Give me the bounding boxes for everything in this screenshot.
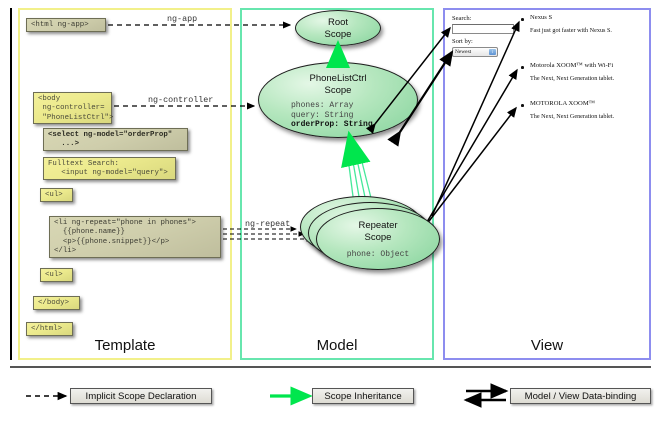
panel-template-title: Template <box>20 337 230 354</box>
template-box-ul-close: <ul> <box>40 268 73 282</box>
template-box-ul-open: <ul> <box>40 188 73 202</box>
bottom-horizontal-rule <box>10 366 651 368</box>
view-list-item[interactable]: Nexus S Fast just got faster with Nexus … <box>530 14 645 35</box>
edge-label-ng-controller: ng-controller <box>148 95 213 105</box>
left-vertical-rule <box>10 8 12 360</box>
view-phone-snippet: The Next, Next Generation tablet. <box>530 113 648 121</box>
template-box-body: <body ng-controller= "PhoneListCtrl"> <box>33 92 112 124</box>
scope-root-title-2: Scope <box>296 29 380 41</box>
scope-root: Root Scope <box>295 10 381 46</box>
template-box-li: <li ng-repeat="phone in phones"> {{phone… <box>49 216 221 258</box>
view-list-item[interactable]: MOTOROLA XOOM™ The Next, Next Generation… <box>530 100 648 121</box>
diagram-canvas: Template <html ng-app> <body ng-controll… <box>0 0 661 425</box>
template-box-html: <html ng-app> <box>26 18 106 32</box>
panel-view-title: View <box>445 337 649 354</box>
view-list-bullet <box>521 18 524 21</box>
chevron-down-icon: ↕ <box>489 49 496 55</box>
scope-ctrl-title-1: PhoneListCtrl <box>259 73 417 85</box>
view-phone-snippet: The Next, Next Generation tablet. <box>530 75 648 83</box>
view-list-bullet <box>521 104 524 107</box>
scope-ctrl-prop-phones: phones: Array <box>291 101 417 111</box>
view-sort-label: Sort by: <box>452 38 473 45</box>
panel-model: Model <box>240 8 434 360</box>
view-phone-name: MOTOROLA XOOM™ <box>530 100 648 108</box>
view-phone-snippet: Fast just got faster with Nexus S. <box>530 27 645 35</box>
legend-label-implicit: Implicit Scope Declaration <box>70 388 212 404</box>
scope-repeater-title-1: Repeater <box>317 220 439 232</box>
view-sort-select[interactable]: Newest ↕ <box>452 47 498 57</box>
legend-label-inheritance: Scope Inheritance <box>312 388 414 404</box>
view-search-input[interactable] <box>452 24 514 34</box>
template-box-select: <select ng-model="orderProp" ...> <box>43 128 188 151</box>
scope-ctrl-prop-orderprop: orderProp: String <box>291 120 417 130</box>
view-phone-name: Motorola XOOM™ with Wi-Fi <box>530 62 648 70</box>
template-box-body-close: </body> <box>33 296 80 310</box>
scope-ctrl-prop-query: query: String <box>291 111 417 121</box>
template-box-html-close: </html> <box>26 322 73 336</box>
scope-root-title-1: Root <box>296 17 380 29</box>
view-sort-selected-value: Newest <box>455 49 471 55</box>
view-search-label: Search: <box>452 15 472 22</box>
view-phone-name: Nexus S <box>530 14 645 22</box>
edge-label-ng-app: ng-app <box>167 14 197 24</box>
scope-repeater-prop-phone: phone: Object <box>317 250 439 260</box>
template-box-fulltext: Fulltext Search: <input ng-model="query"… <box>43 157 176 180</box>
scope-phonelistctrl: PhoneListCtrl Scope phones: Array query:… <box>258 62 418 138</box>
legend-label-databinding: Model / View Data-binding <box>510 388 651 404</box>
scope-ctrl-title-2: Scope <box>259 85 417 97</box>
view-list-bullet <box>521 66 524 69</box>
scope-repeater: Repeater Scope phone: Object <box>316 208 440 270</box>
panel-view: View <box>443 8 651 360</box>
panel-model-title: Model <box>242 337 432 354</box>
view-list-item[interactable]: Motorola XOOM™ with Wi-Fi The Next, Next… <box>530 62 648 83</box>
edge-label-ng-repeat: ng-repeat <box>245 219 290 229</box>
scope-repeater-title-2: Scope <box>317 232 439 244</box>
